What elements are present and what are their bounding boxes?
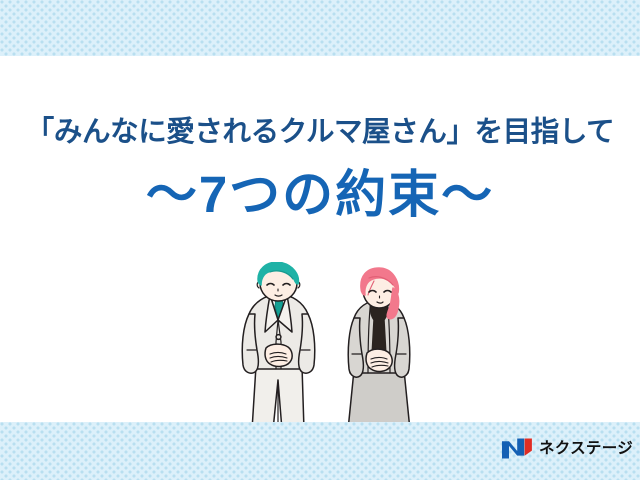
slide-canvas: 「みんなに愛されるクルマ屋さん」を目指して ～7つの約束～ [0,0,640,480]
page-subtitle: ～7つの約束～ [0,164,640,226]
brand-logo: ネクステージ [502,438,633,459]
headline-block: 「みんなに愛されるクルマ屋さん」を目指して ～7つの約束～ [0,112,640,226]
bowing-staff-illustration [232,262,432,434]
top-dotted-band [0,0,640,56]
page-title: 「みんなに愛されるクルマ屋さん」を目指して [0,112,640,152]
nexstage-n-logo-icon [502,438,532,459]
female-staff-figure [348,268,410,430]
male-staff-figure [242,262,315,430]
brand-wordmark: ネクステージ [539,441,633,457]
